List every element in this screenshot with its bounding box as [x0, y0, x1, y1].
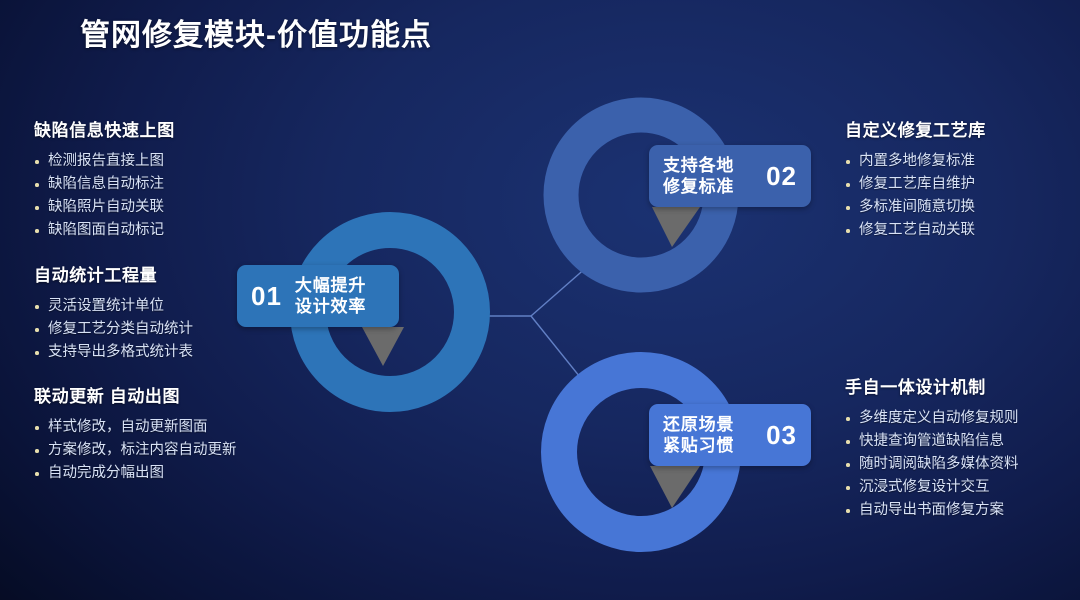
badge-01[interactable]: 01 大幅提升 设计效率 — [237, 265, 399, 327]
list-item: 方案修改，标注内容自动更新 — [34, 439, 237, 462]
badge-02-number: 02 — [766, 163, 797, 189]
right-block-1-heading: 自定义修复工艺库 — [845, 116, 986, 141]
list-item: 快捷查询管道缺陷信息 — [845, 430, 1019, 453]
list-item: 样式修改，自动更新图面 — [34, 416, 237, 439]
list-item: 缺陷图面自动标记 — [34, 219, 175, 242]
list-item: 支持导出多格式统计表 — [34, 341, 193, 364]
left-block-1-bullets: 检测报告直接上图 缺陷信息自动标注 缺陷照片自动关联 缺陷图面自动标记 — [34, 150, 175, 242]
badge-03-caption-line1: 还原场景 — [663, 415, 734, 434]
list-item: 修复工艺自动关联 — [845, 219, 986, 242]
left-block-3-heading: 联动更新 自动出图 — [34, 382, 237, 407]
badge-01-caption-line1: 大幅提升 — [295, 276, 366, 295]
slide-canvas: 管网修复模块-价值功能点 — [0, 0, 1080, 600]
list-item: 多标准间随意切换 — [845, 196, 986, 219]
right-block-2-bullets: 多维度定义自动修复规则 快捷查询管道缺陷信息 随时调阅缺陷多媒体资料 沉浸式修复… — [845, 407, 1019, 522]
badge-03-caption-line2: 紧贴习惯 — [663, 436, 734, 455]
list-item: 缺陷信息自动标注 — [34, 173, 175, 196]
badge-01-caption-line2: 设计效率 — [295, 297, 366, 316]
list-item: 内置多地修复标准 — [845, 150, 986, 173]
badge-01-tail — [362, 327, 404, 366]
badge-03-number: 03 — [766, 422, 797, 448]
list-item: 自动完成分幅出图 — [34, 462, 237, 485]
badge-03-caption: 还原场景 紧贴习惯 — [663, 414, 734, 456]
left-block-1-heading: 缺陷信息快速上图 — [34, 116, 175, 141]
list-item: 修复工艺分类自动统计 — [34, 318, 193, 341]
list-item: 缺陷照片自动关联 — [34, 196, 175, 219]
list-item: 随时调阅缺陷多媒体资料 — [845, 453, 1019, 476]
left-block-3-bullets: 样式修改，自动更新图面 方案修改，标注内容自动更新 自动完成分幅出图 — [34, 416, 237, 485]
left-block-1: 缺陷信息快速上图 检测报告直接上图 缺陷信息自动标注 缺陷照片自动关联 缺陷图面… — [34, 116, 175, 242]
list-item: 修复工艺库自维护 — [845, 173, 986, 196]
left-block-2-heading: 自动统计工程量 — [34, 261, 193, 286]
badge-02-caption-line1: 支持各地 — [663, 156, 734, 175]
right-block-2: 手自一体设计机制 多维度定义自动修复规则 快捷查询管道缺陷信息 随时调阅缺陷多媒… — [845, 373, 1019, 522]
badge-01-caption: 大幅提升 设计效率 — [295, 275, 366, 317]
list-item: 灵活设置统计单位 — [34, 295, 193, 318]
right-block-1: 自定义修复工艺库 内置多地修复标准 修复工艺库自维护 多标准间随意切换 修复工艺… — [845, 116, 986, 242]
badge-02[interactable]: 支持各地 修复标准 02 — [649, 145, 811, 207]
right-block-1-bullets: 内置多地修复标准 修复工艺库自维护 多标准间随意切换 修复工艺自动关联 — [845, 150, 986, 242]
badge-02-caption-line2: 修复标准 — [663, 177, 734, 196]
badge-03[interactable]: 还原场景 紧贴习惯 03 — [649, 404, 811, 466]
badge-01-number: 01 — [251, 283, 282, 309]
left-block-2-bullets: 灵活设置统计单位 修复工艺分类自动统计 支持导出多格式统计表 — [34, 295, 193, 364]
list-item: 沉浸式修复设计交互 — [845, 476, 1019, 499]
list-item: 多维度定义自动修复规则 — [845, 407, 1019, 430]
list-item: 自动导出书面修复方案 — [845, 499, 1019, 522]
list-item: 检测报告直接上图 — [34, 150, 175, 173]
right-block-2-heading: 手自一体设计机制 — [845, 373, 1019, 398]
left-block-2: 自动统计工程量 灵活设置统计单位 修复工艺分类自动统计 支持导出多格式统计表 — [34, 261, 193, 364]
badge-02-caption: 支持各地 修复标准 — [663, 155, 734, 197]
left-block-3: 联动更新 自动出图 样式修改，自动更新图面 方案修改，标注内容自动更新 自动完成… — [34, 382, 237, 485]
